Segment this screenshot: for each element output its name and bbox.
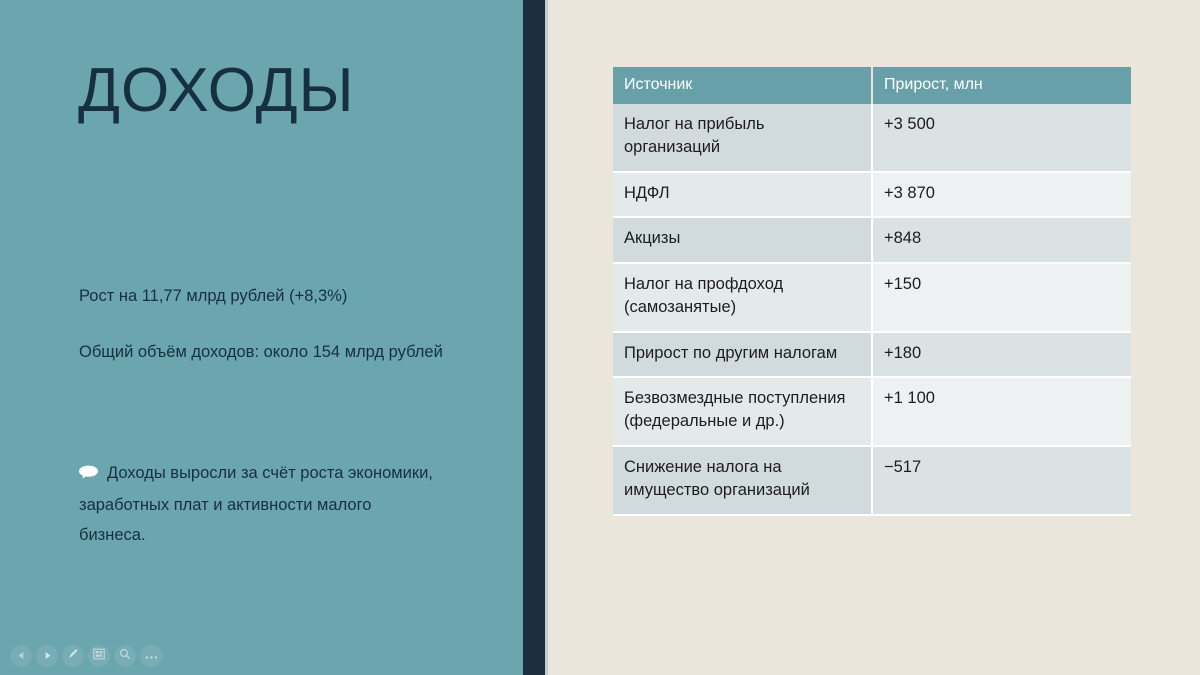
cell-growth: +3 870 [872, 172, 1131, 217]
triangle-right-icon [43, 647, 52, 665]
summary-text-block: Рост на 11,77 млрд рублей (+8,3%) Общий … [79, 284, 459, 365]
cell-source: Налог на профдоход (самозанятые) [613, 263, 872, 332]
column-header-growth: Прирост, млн [872, 67, 1131, 104]
previous-slide-button[interactable] [10, 645, 32, 667]
magnifier-icon [119, 647, 131, 665]
navy-divider-strip [523, 0, 545, 675]
pen-tool-button[interactable] [62, 645, 84, 667]
cell-growth: +3 500 [872, 104, 1131, 172]
table-row: Налог на профдоход (самозанятые) +150 [613, 263, 1131, 332]
revenue-table-container: Источник Прирост, млн Налог на прибыль о… [613, 67, 1131, 516]
table-row: Акцизы +848 [613, 217, 1131, 262]
table-row: Снижение налога на имущество организаций… [613, 446, 1131, 515]
bullet-note-text: Доходы выросли за счёт роста экономики, … [79, 464, 433, 544]
total-revenue-line: Общий объём доходов: около 154 млрд рубл… [79, 340, 459, 366]
table-header-row: Источник Прирост, млн [613, 67, 1131, 104]
table-row: Налог на прибыль организаций +3 500 [613, 104, 1131, 172]
cell-growth: +150 [872, 263, 1131, 332]
cell-growth: −517 [872, 446, 1131, 515]
slide-overview-button[interactable] [88, 645, 110, 667]
speech-bubble-icon [79, 459, 98, 490]
cell-source: Налог на прибыль организаций [613, 104, 872, 172]
cell-source: Прирост по другим налогам [613, 332, 872, 377]
slideshow-toolbar[interactable] [10, 645, 162, 667]
table-row: НДФЛ +3 870 [613, 172, 1131, 217]
ellipsis-icon [145, 647, 158, 665]
pen-icon [67, 647, 79, 665]
column-header-source: Источник [613, 67, 872, 104]
table-row: Прирост по другим налогам +180 [613, 332, 1131, 377]
grid-icon [93, 647, 105, 665]
cell-source: Акцизы [613, 217, 872, 262]
cell-growth: +1 100 [872, 377, 1131, 446]
table-row: Безвозмездные поступления (федеральные и… [613, 377, 1131, 446]
triangle-left-icon [17, 647, 26, 665]
cell-source: Безвозмездные поступления (федеральные и… [613, 377, 872, 446]
table-body: Налог на прибыль организаций +3 500 НДФЛ… [613, 104, 1131, 515]
bullet-note-block: Доходы выросли за счёт роста экономики, … [79, 458, 439, 551]
revenue-table: Источник Прирост, млн Налог на прибыль о… [613, 67, 1131, 516]
more-options-button[interactable] [140, 645, 162, 667]
zoom-button[interactable] [114, 645, 136, 667]
growth-summary-line: Рост на 11,77 млрд рублей (+8,3%) [79, 284, 459, 310]
next-slide-button[interactable] [36, 645, 58, 667]
cell-growth: +180 [872, 332, 1131, 377]
cell-source: НДФЛ [613, 172, 872, 217]
divider-accent-line [545, 0, 548, 675]
presentation-slide: ДОХОДЫ Рост на 11,77 млрд рублей (+8,3%)… [0, 0, 1200, 675]
page-title: ДОХОДЫ [78, 58, 354, 123]
cell-growth: +848 [872, 217, 1131, 262]
cell-source: Снижение налога на имущество организаций [613, 446, 872, 515]
